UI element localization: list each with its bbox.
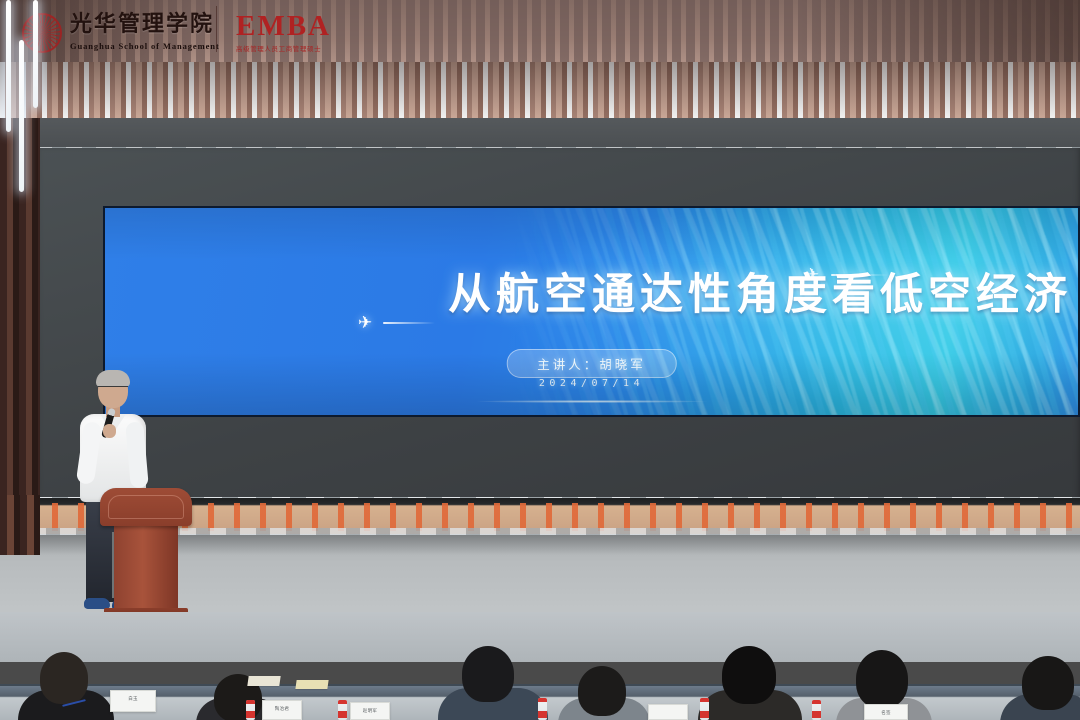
place-card-icon: 赵明军: [350, 702, 390, 720]
audience-head: [462, 646, 514, 702]
water-bottle-icon: [538, 698, 547, 720]
place-card-icon: 名签: [864, 704, 908, 720]
water-bottle-icon: [338, 700, 347, 720]
vertical-divider-icon: [216, 6, 217, 52]
water-bottle-icon: [246, 700, 255, 720]
led-screen: ✈ ✈ 从航空通达性角度看低空经济 主讲人：胡晓军 2024/07/14: [103, 206, 1080, 417]
place-card-icon: 白玉: [110, 690, 156, 712]
light-tube-icon: [6, 0, 11, 132]
water-bottle-icon: [812, 700, 821, 720]
presenter-hand: [103, 424, 116, 438]
lecture-hall-photo: 光华管理学院 Guanghua School of Management EMB…: [0, 0, 1080, 720]
lectern-top-inlay: [108, 495, 184, 519]
emba-program-name-cn: 高级管理人员工商管理硕士: [236, 43, 346, 53]
school-name-cn: 光华管理学院: [70, 10, 222, 40]
place-card-icon: [648, 704, 688, 720]
lectern-top: [100, 488, 192, 526]
left-base-column: [0, 495, 40, 555]
namecard-text: 名签: [865, 710, 907, 716]
light-tube-icon: [33, 0, 38, 108]
place-card-icon: 陶冶君: [262, 700, 302, 720]
lectern-body: [114, 524, 178, 610]
presenter-hair: [96, 370, 130, 387]
audience-head: [40, 652, 88, 704]
document-paper: [295, 680, 328, 689]
audience-head: [1022, 656, 1074, 710]
audience-backwall: [0, 612, 1080, 662]
namecard-text: 陶冶君: [263, 706, 301, 712]
school-name-en: Guanghua School of Management: [70, 41, 230, 51]
screen-vignette: [105, 208, 1078, 415]
eyeglasses-icon: [98, 386, 128, 391]
audience-head: [578, 666, 626, 716]
namecard-text: 白玉: [111, 696, 155, 702]
light-tube-icon: [19, 40, 24, 192]
guanghua-seal-icon: [22, 13, 62, 53]
lectern: [100, 488, 192, 628]
audience-head: [856, 650, 908, 708]
emba-logo: EMBA 高级管理人员工商管理硕士: [236, 10, 346, 53]
namecard-text: 赵明军: [351, 708, 389, 714]
audience-head: [722, 646, 776, 704]
guanghua-logo: 光华管理学院 Guanghua School of Management: [22, 8, 222, 60]
document-paper: [247, 676, 280, 686]
led-screen-surface: ✈ ✈ 从航空通达性角度看低空经济 主讲人：胡晓军 2024/07/14: [105, 208, 1078, 415]
emba-program-code: EMBA: [236, 10, 346, 42]
water-bottle-icon: [700, 698, 709, 720]
